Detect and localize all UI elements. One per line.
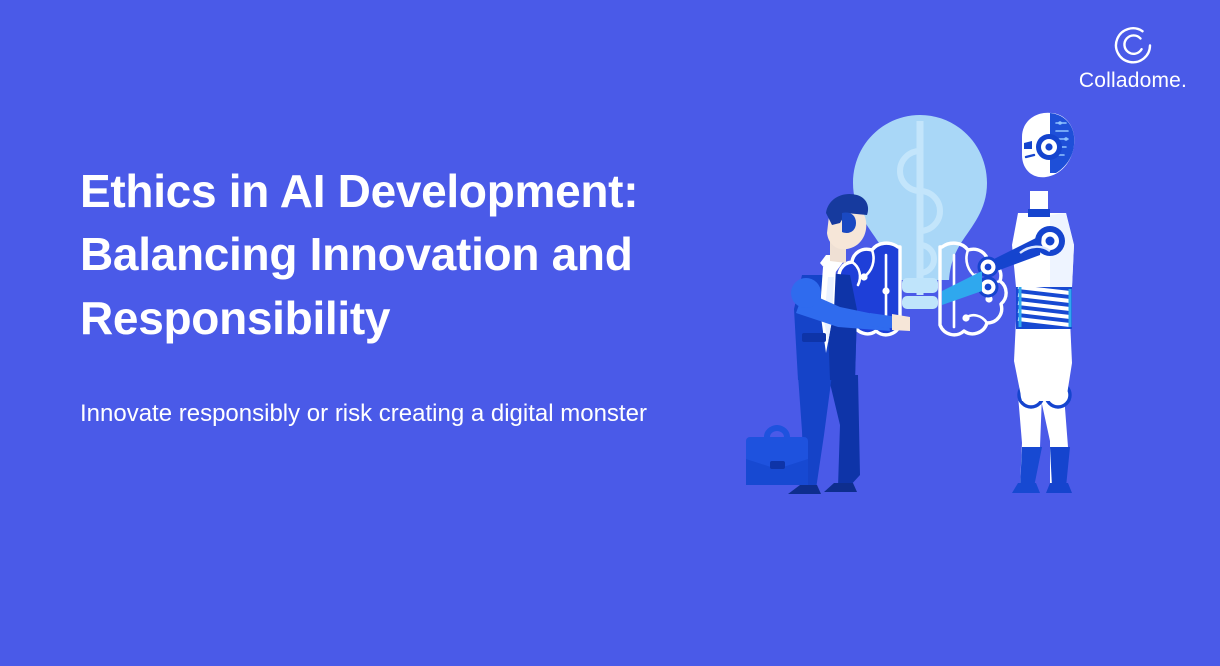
- brand-logo[interactable]: Colladome.: [1068, 24, 1198, 91]
- colladome-circle-mark-icon: [1111, 24, 1155, 68]
- page-subtitle: Innovate responsibly or risk creating a …: [80, 350, 655, 430]
- hero-text-block: Ethics in AI Development: Balancing Inno…: [80, 160, 700, 430]
- briefcase-icon: [746, 425, 808, 485]
- brand-wordmark: Colladome.: [1079, 70, 1187, 91]
- hero-banner: Colladome. Ethics in AI Development: Bal…: [0, 0, 1220, 666]
- page-title: Ethics in AI Development: Balancing Inno…: [80, 160, 700, 350]
- human-and-robot-handshake-with-lightbulb-illustration: [720, 95, 1120, 515]
- hero-illustration: [720, 95, 1120, 515]
